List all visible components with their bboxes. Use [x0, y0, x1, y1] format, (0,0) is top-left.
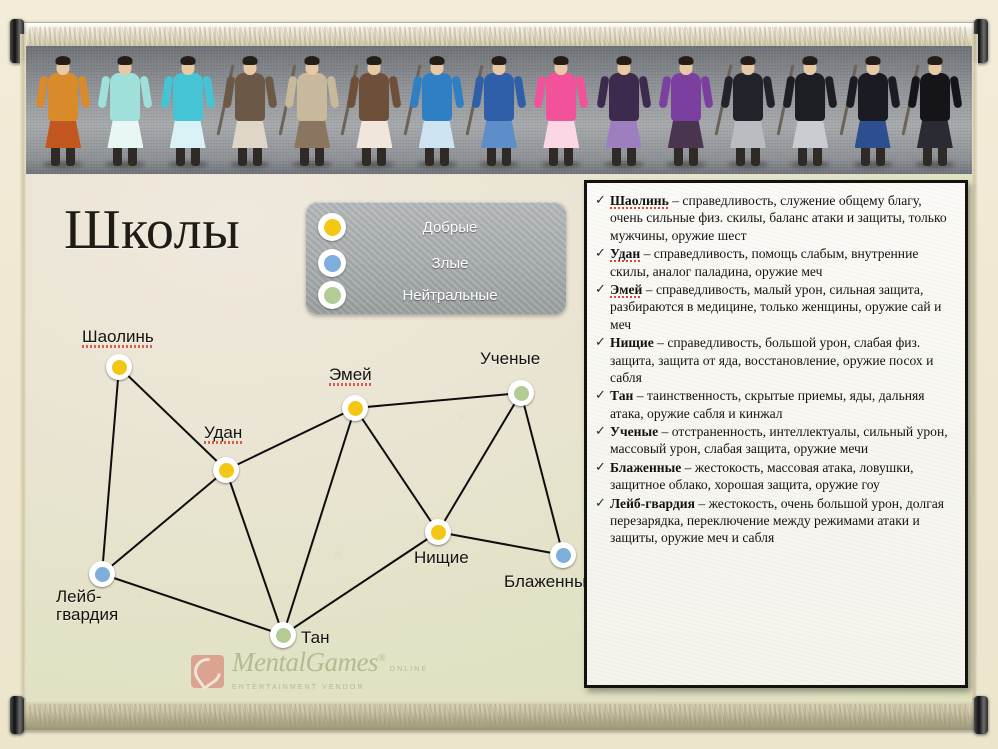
character-hair — [429, 56, 444, 65]
school-description-panel[interactable]: ✓Шаолинь – справедливость, служение обще… — [584, 180, 968, 688]
character-wudang-swordsman — [159, 56, 217, 168]
character-hair — [305, 56, 320, 65]
school-name: Блаженные — [610, 460, 681, 475]
graph-node-shaolin[interactable] — [106, 354, 132, 380]
character-arm — [409, 76, 422, 109]
character-arm — [658, 76, 671, 109]
graph-edge-shaolin-lifeguard — [102, 367, 119, 574]
graph-node-label-blessed: Блаженные — [504, 573, 596, 591]
character-shadow — [168, 161, 208, 168]
school-name: Лейб-гвардия — [610, 496, 695, 511]
frame-edge-right — [971, 34, 978, 719]
check-icon: ✓ — [595, 281, 610, 298]
school-description-text: Блаженные – жестокость, массовая атака, … — [610, 459, 955, 494]
character-arm — [887, 76, 900, 109]
character-hair — [180, 56, 195, 65]
school-description-list: ✓Шаолинь – справедливость, служение обще… — [595, 192, 955, 547]
character-arm — [534, 76, 547, 109]
school-name: Удан — [610, 246, 640, 264]
character-torso — [359, 73, 389, 121]
graph-edge-scholars-beggars — [438, 393, 521, 532]
character-lineup-banner — [26, 46, 972, 176]
school-description-text: Нищие – справедливость, большой урон, сл… — [610, 334, 955, 386]
character-shadow — [915, 161, 955, 168]
character-torso — [920, 73, 950, 121]
scroll-rod-bottom-decoration — [18, 699, 980, 731]
character-arm — [472, 76, 485, 109]
character-staff-fighter — [283, 56, 341, 168]
character-hair — [491, 56, 506, 65]
character-arm — [845, 76, 858, 109]
character-brown-warrior — [345, 56, 403, 168]
character-violet-rogue — [657, 56, 715, 168]
character-blue-guard — [844, 56, 902, 168]
legend-label-neutral: Нейтральные — [346, 287, 554, 304]
character-hair — [56, 56, 71, 65]
character-shadow — [43, 161, 83, 168]
school-description-item: ✓Нищие – справедливость, большой урон, с… — [595, 334, 955, 386]
graph-node-label-tang: Тан — [301, 629, 329, 647]
graph-edge-emei-beggars — [355, 408, 438, 532]
character-emei-woman — [96, 56, 154, 168]
character-pink-maiden — [532, 56, 590, 168]
school-description-text: Тан – таинственность, скрытые приемы, яд… — [610, 387, 955, 422]
character-arm — [264, 76, 277, 109]
check-icon: ✓ — [595, 459, 610, 476]
check-icon: ✓ — [595, 495, 610, 512]
school-description-item: ✓Эмей – справедливость, малый урон, силь… — [595, 281, 955, 333]
legend-item-neutral[interactable]: Нейтральные — [318, 278, 554, 312]
graph-node-label-beggars: Нищие — [414, 549, 469, 567]
character-torso — [110, 73, 140, 121]
character-hair — [865, 56, 880, 65]
character-shadow — [354, 161, 394, 168]
legend-label-good: Добрые — [346, 219, 554, 236]
rod-texture — [29, 704, 969, 724]
school-name: Тан — [610, 388, 633, 403]
logo-wordmark: MentalGames® — [232, 647, 385, 677]
character-torso — [484, 73, 514, 121]
graph-node-label-wudang: Удан — [204, 424, 242, 444]
character-shadow — [292, 161, 332, 168]
character-torso — [795, 73, 825, 121]
head-spiral-icon — [191, 655, 224, 688]
alignment-legend: Добрые Злые Нейтральные — [306, 202, 566, 314]
school-relationship-graph: ШаолиньУданЭмейУченыеНищиеБлаженныеЛейб-… — [26, 324, 596, 684]
character-beggar-fighter — [221, 56, 279, 168]
character-arm — [783, 76, 796, 109]
mentalgames-logo: MentalGames® ONLINE ENTERTAINMENT VENDOR — [191, 648, 441, 694]
character-torso — [733, 73, 763, 121]
character-torso — [297, 73, 327, 121]
character-torso — [173, 73, 203, 121]
character-arm — [202, 76, 215, 109]
character-torso — [671, 73, 701, 121]
graph-edge-scholars-blessed — [521, 393, 563, 555]
character-hair — [554, 56, 569, 65]
character-arm — [949, 76, 962, 109]
character-dark-assassin — [719, 56, 777, 168]
rod-cap-left-icon — [10, 696, 24, 734]
character-arm — [36, 76, 49, 109]
character-arm — [222, 76, 235, 109]
character-arm — [638, 76, 651, 109]
character-shadow — [666, 161, 706, 168]
character-shadow — [790, 161, 830, 168]
school-description-item: ✓Ученые – отстраненность, интеллектуалы,… — [595, 423, 955, 458]
school-name: Нищие — [610, 335, 654, 350]
character-hair — [242, 56, 257, 65]
character-arm — [160, 76, 173, 109]
legend-dot-good-icon — [318, 213, 346, 241]
character-arm — [285, 76, 298, 109]
character-arm — [514, 76, 527, 109]
school-name: Эмей — [610, 282, 642, 300]
character-navy-scholar — [470, 56, 528, 168]
character-arm — [451, 76, 464, 109]
character-shadow — [541, 161, 581, 168]
graph-edge-shaolin-wudang — [119, 367, 226, 470]
character-arm — [140, 76, 153, 109]
legend-item-good[interactable]: Добрые — [318, 210, 554, 244]
school-description-text: Эмей – справедливость, малый урон, сильн… — [610, 281, 955, 333]
graph-edge-wudang-lifeguard — [102, 470, 226, 574]
graph-node-scholars[interactable] — [508, 380, 534, 406]
school-description-item: ✓Тан – таинственность, скрытые приемы, я… — [595, 387, 955, 422]
character-purple-dancer — [595, 56, 653, 168]
presentation-slide: Школы Добрые Злые Нейтральные ШаолиньУда… — [0, 0, 998, 749]
graph-node-label-emei: Эмей — [329, 366, 372, 386]
graph-edge-emei-scholars — [355, 393, 521, 408]
character-torso — [546, 73, 576, 121]
character-hair — [927, 56, 942, 65]
school-description-text: Шаолинь – справедливость, служение общем… — [610, 192, 955, 244]
school-description-item: ✓Блаженные – жестокость, массовая атака,… — [595, 459, 955, 494]
graph-node-label-scholars: Ученые — [480, 350, 540, 368]
page-title: Школы — [64, 202, 240, 258]
graph-node-label-lifeguard: Лейб- гвардия — [56, 588, 118, 625]
character-shadow — [728, 161, 768, 168]
check-icon: ✓ — [595, 387, 610, 404]
character-arm — [347, 76, 360, 109]
character-hair — [367, 56, 382, 65]
graph-edge-wudang-emei — [226, 408, 355, 470]
character-shadow — [479, 161, 519, 168]
character-shadow — [230, 161, 270, 168]
graph-edge-wudang-tang — [226, 470, 283, 635]
legend-item-evil[interactable]: Злые — [318, 246, 554, 280]
character-hooded-guard — [906, 56, 964, 168]
character-hair — [803, 56, 818, 65]
slide-content: Школы Добрые Злые Нейтральные ШаолиньУда… — [26, 174, 972, 702]
character-arm — [907, 76, 920, 109]
character-shadow — [853, 161, 893, 168]
school-description-text: Ученые – отстраненность, интеллектуалы, … — [610, 423, 955, 458]
school-description-item: ✓Лейб-гвардия – жестокость, очень большо… — [595, 495, 955, 547]
character-blue-scholar — [408, 56, 466, 168]
character-arm — [327, 76, 340, 109]
character-shadow — [604, 161, 644, 168]
school-description-item: ✓Удан – справедливость, помощь слабым, в… — [595, 245, 955, 280]
character-arm — [576, 76, 589, 109]
character-arm — [700, 76, 713, 109]
graph-node-label-shaolin: Шаолинь — [82, 328, 154, 348]
character-hair — [678, 56, 693, 65]
character-torso — [235, 73, 265, 121]
school-description-text: Лейб-гвардия – жестокость, очень большой… — [610, 495, 955, 547]
character-hair — [616, 56, 631, 65]
character-torso — [609, 73, 639, 121]
character-hair — [741, 56, 756, 65]
character-torso — [858, 73, 888, 121]
school-description-text: Удан – справедливость, помощь слабым, вн… — [610, 245, 955, 280]
character-arm — [78, 76, 91, 109]
character-hair — [118, 56, 133, 65]
school-description-item: ✓Шаолинь – справедливость, служение обще… — [595, 192, 955, 244]
character-torso — [422, 73, 452, 121]
rod-cap-right-icon — [974, 696, 988, 734]
legend-label-evil: Злые — [346, 255, 554, 272]
check-icon: ✓ — [595, 334, 610, 351]
check-icon: ✓ — [595, 192, 610, 209]
character-shadow — [105, 161, 145, 168]
character-arm — [389, 76, 402, 109]
school-name: Ученые — [610, 424, 658, 439]
character-shadow — [417, 161, 457, 168]
graph-node-beggars[interactable] — [425, 519, 451, 545]
check-icon: ✓ — [595, 423, 610, 440]
character-list — [26, 46, 972, 174]
graph-node-wudang[interactable] — [213, 457, 239, 483]
graph-node-tang[interactable] — [270, 622, 296, 648]
legend-dot-evil-icon — [318, 249, 346, 277]
character-torso — [48, 73, 78, 121]
character-arm — [763, 76, 776, 109]
graph-node-emei[interactable] — [342, 395, 368, 421]
character-hat-swordsman — [781, 56, 839, 168]
graph-node-blessed[interactable] — [550, 542, 576, 568]
character-arm — [596, 76, 609, 109]
graph-node-lifeguard[interactable] — [89, 561, 115, 587]
graph-edge-lifeguard-tang — [102, 574, 283, 635]
legend-dot-neutral-icon — [318, 281, 346, 309]
graph-edge-emei-tang — [283, 408, 355, 635]
character-arm — [825, 76, 838, 109]
check-icon: ✓ — [595, 245, 610, 262]
character-arm — [98, 76, 111, 109]
school-name: Шаолинь — [610, 193, 669, 211]
character-arm — [721, 76, 734, 109]
character-shaolin-monk — [34, 56, 92, 168]
